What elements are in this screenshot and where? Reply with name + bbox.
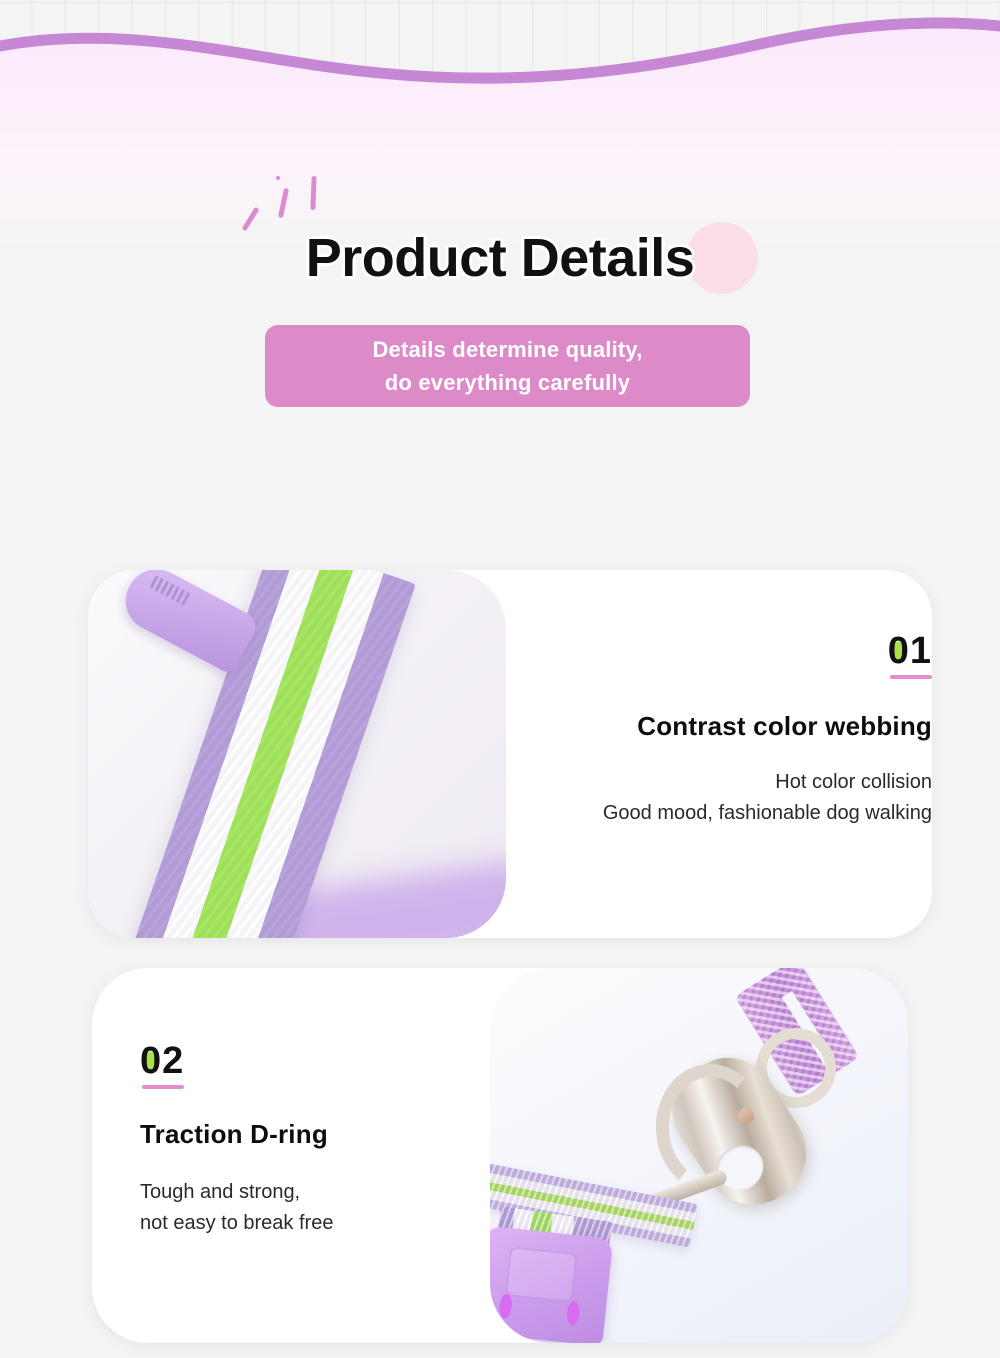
subtitle-badge: Details determine quality, do everything… [265, 325, 750, 407]
sparkle-dash-3 [310, 176, 316, 210]
feature-image-contrast-color-webbing [88, 570, 506, 938]
feature-number-02-zero: 0 [140, 1040, 162, 1082]
subtitle-line-2: do everything carefully [385, 366, 630, 399]
feature-card-01: 01 Contrast color webbing Hot color coll… [88, 570, 932, 938]
page-header: Product Details [0, 226, 1000, 290]
feature-title-02: Traction D-ring [140, 1117, 480, 1151]
feature-card-02: 02 Traction D-ring Tough and strong, not… [92, 968, 908, 1343]
feature-title-01: Contrast color webbing [548, 709, 932, 743]
subtitle-line-1: Details determine quality, [372, 333, 642, 366]
feature-desc-01-line-1: Hot color collision [548, 767, 932, 798]
wave-decoration [0, 0, 1000, 260]
feature-number-01: 01 [888, 630, 932, 679]
feature-number-01-digit: 1 [910, 630, 932, 672]
sparkle-dot [276, 176, 280, 180]
sparkle-dash-2 [278, 188, 289, 218]
feature-desc-01-line-2: Good mood, fashionable dog walking [548, 798, 932, 829]
feature-desc-02-line-1: Tough and strong, [140, 1177, 480, 1208]
feature-image-traction-d-ring [490, 968, 908, 1343]
page-title: Product Details [0, 226, 1000, 290]
webbing-buckle-illustration [115, 570, 261, 675]
feature-desc-02-line-2: not easy to break free [140, 1208, 480, 1239]
clasp-pivot-screw [738, 1108, 754, 1124]
product-details-page: Product Details Details determine qualit… [0, 0, 1000, 1358]
feature-number-02-digit: 2 [162, 1040, 184, 1082]
feature-number-01-zero: 0 [888, 630, 910, 672]
sparkle-decoration [244, 166, 364, 232]
feature-text-01: 01 Contrast color webbing Hot color coll… [548, 630, 932, 829]
feature-text-02: 02 Traction D-ring Tough and strong, not… [140, 1040, 480, 1239]
collar-buckle-illustration [490, 1226, 613, 1343]
feature-desc-02: Tough and strong, not easy to break free [140, 1177, 480, 1239]
feature-desc-01: Hot color collision Good mood, fashionab… [548, 767, 932, 829]
feature-number-02: 02 [140, 1040, 184, 1089]
top-banner [0, 0, 1000, 260]
